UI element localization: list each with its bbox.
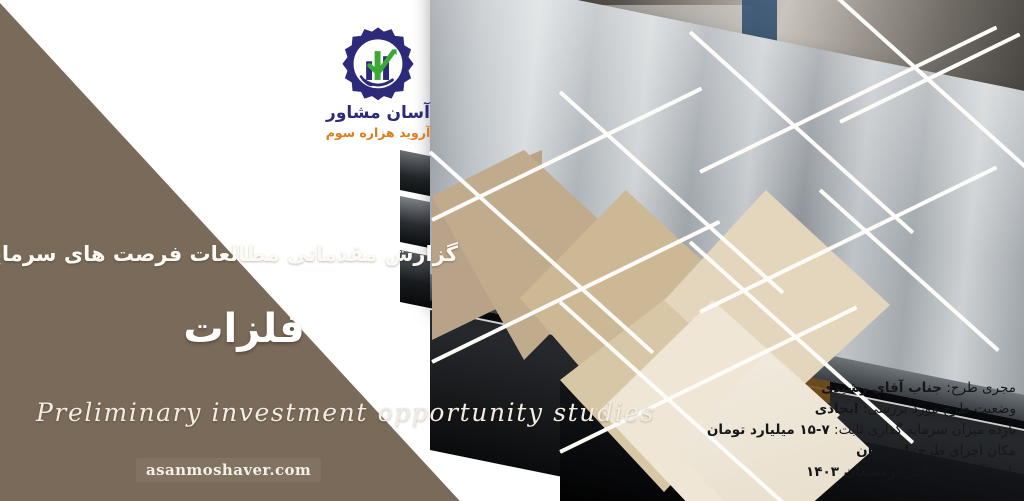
meta-row: مکان اجرای طرح: اصفهان <box>596 441 1016 461</box>
meta-value: ایجادی <box>815 401 859 417</box>
meta-label: وضعیت طرح مورد بررسی: <box>863 401 1016 417</box>
meta-row: مجری طرح: جناب آقای رشیدی <box>596 378 1016 398</box>
page-title: فلزات <box>164 306 324 352</box>
meta-value: ۷-۱۵ میلیارد تومان <box>707 422 830 438</box>
website-badge[interactable]: asanmoshaver.com <box>136 458 321 482</box>
meta-label: مجری طرح: <box>946 380 1016 396</box>
project-meta-block: مجری طرح: جناب آقای رشیدی وضعیت طرح مورد… <box>596 378 1016 483</box>
meta-label: بازده میزان سرمایه گذاری ثابت: <box>834 422 1016 438</box>
english-subtitle: Preliminary investment opportunity studi… <box>36 398 655 427</box>
meta-row: وضعیت طرح مورد بررسی: ایجادی <box>596 399 1016 419</box>
meta-label: تاریخ آخرین ویرایش: <box>900 464 1016 480</box>
gear-bar-chart-logo-icon <box>335 24 421 102</box>
company-logo[interactable]: آسان مشاور آروید هزاره سوم <box>312 24 444 140</box>
report-cover-page: آسان مشاور آروید هزاره سوم گزارش مقدماتی… <box>0 0 1024 501</box>
report-kicker: گزارش مقدماتی مطالعات فرصت های سرمایه‌گذ… <box>28 242 458 266</box>
meta-value: زمستان ۱۴۰۳ <box>806 464 896 480</box>
meta-row: بازده میزان سرمایه گذاری ثابت: ۷-۱۵ میلی… <box>596 420 1016 440</box>
logo-subtitle: آروید هزاره سوم <box>312 125 444 140</box>
meta-value: جناب آقای رشیدی <box>821 380 942 396</box>
logo-title: آسان مشاور <box>312 104 444 124</box>
meta-label: مکان اجرای طرح: <box>913 443 1016 459</box>
meta-row: تاریخ آخرین ویرایش: زمستان ۱۴۰۳ <box>596 462 1016 482</box>
meta-value: اصفهان <box>856 443 909 459</box>
